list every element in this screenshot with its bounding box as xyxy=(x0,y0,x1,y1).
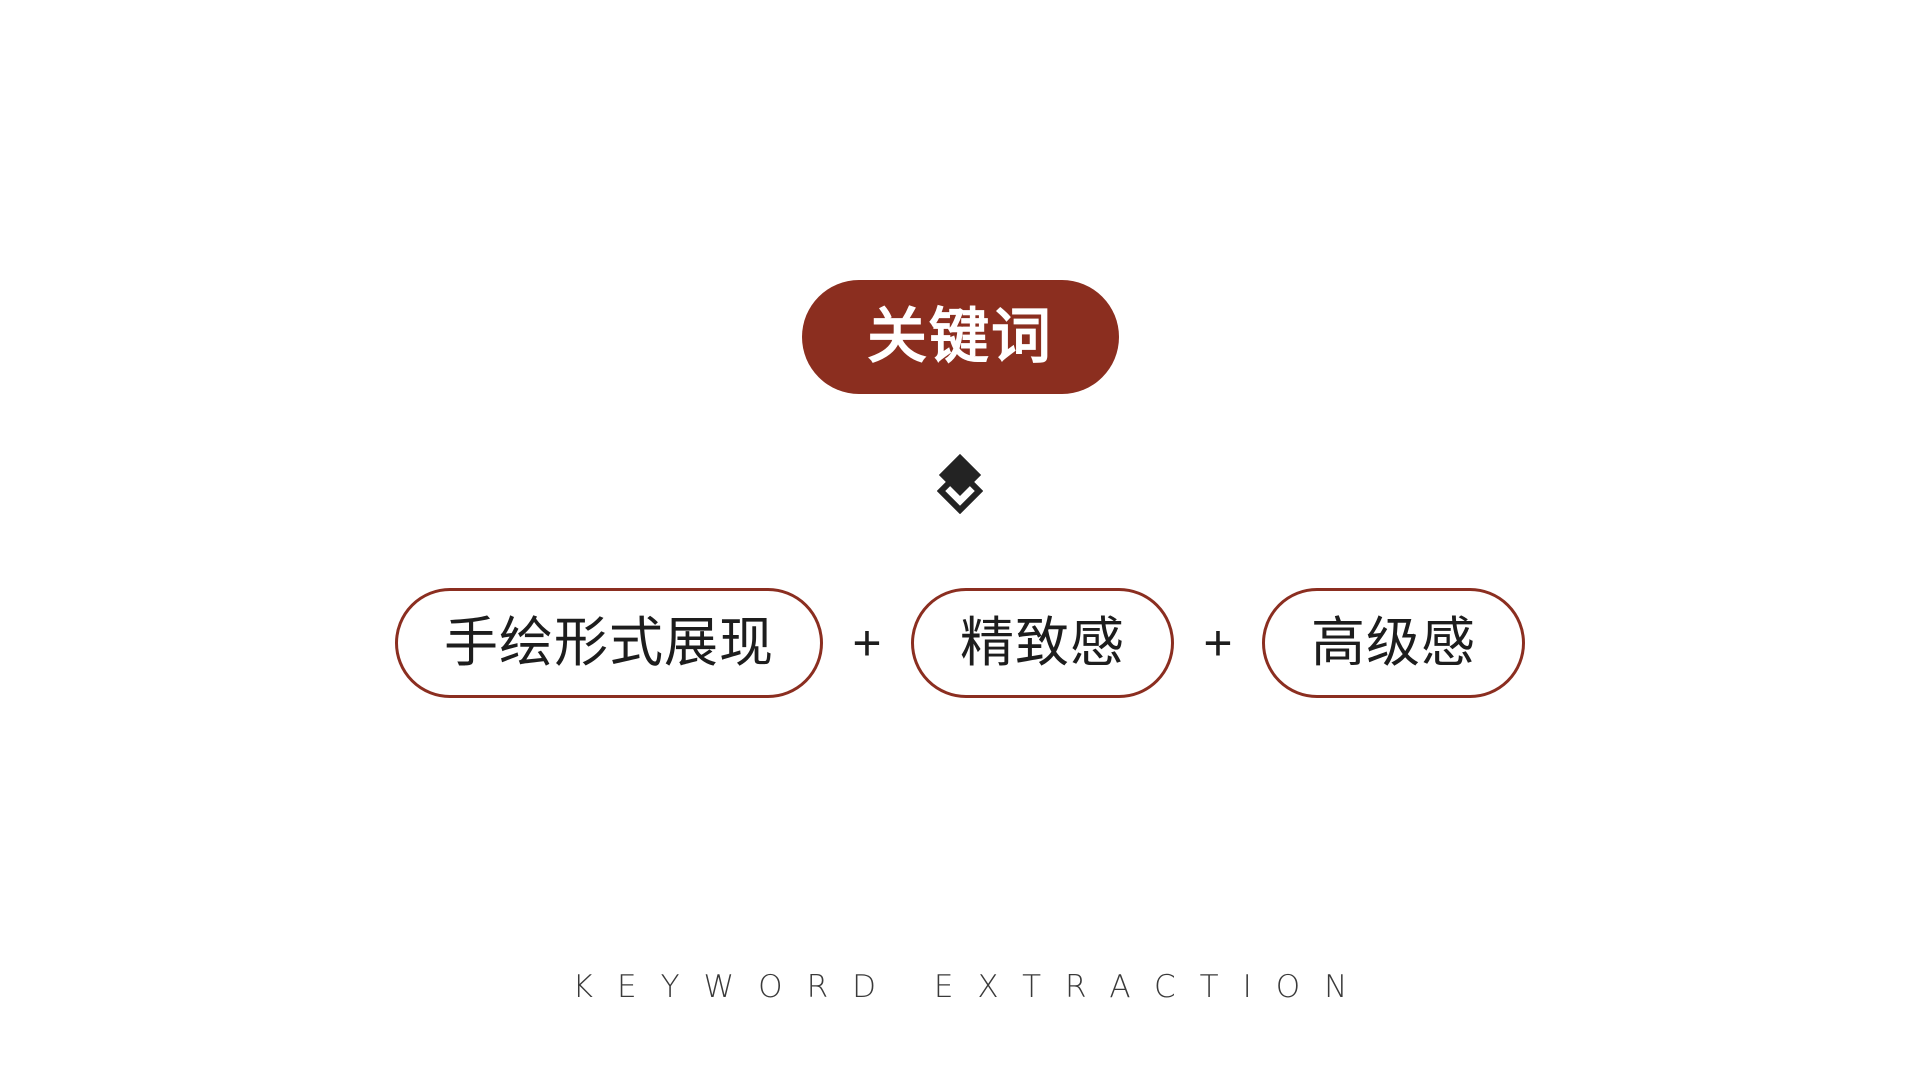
slide-canvas: 关键词 手绘形式展现 + 精致感 + 高级感 KEYWORD EXTRACTIO… xyxy=(0,0,1920,1074)
plus-separator-1: + xyxy=(823,618,911,668)
layers-diamond-icon xyxy=(937,452,983,514)
keyword-tag-1-label: 手绘形式展现 xyxy=(444,616,774,670)
title-pill: 关键词 xyxy=(802,280,1119,394)
keyword-tag-row: 手绘形式展现 + 精致感 + 高级感 xyxy=(0,588,1920,698)
title-pill-container: 关键词 xyxy=(0,280,1920,394)
footer-caption-container: KEYWORD EXTRACTION xyxy=(0,972,1920,1003)
keyword-tag-2-label: 精致感 xyxy=(960,616,1125,670)
plus-separator-2: + xyxy=(1174,618,1262,668)
footer-caption: KEYWORD EXTRACTION xyxy=(549,972,1372,1003)
divider-icon-container xyxy=(0,452,1920,514)
keyword-tag-3[interactable]: 高级感 xyxy=(1262,588,1525,698)
page-title: 关键词 xyxy=(867,307,1053,367)
keyword-tag-1[interactable]: 手绘形式展现 xyxy=(395,588,823,698)
keyword-tag-2[interactable]: 精致感 xyxy=(911,588,1174,698)
keyword-tag-3-label: 高级感 xyxy=(1311,616,1476,670)
